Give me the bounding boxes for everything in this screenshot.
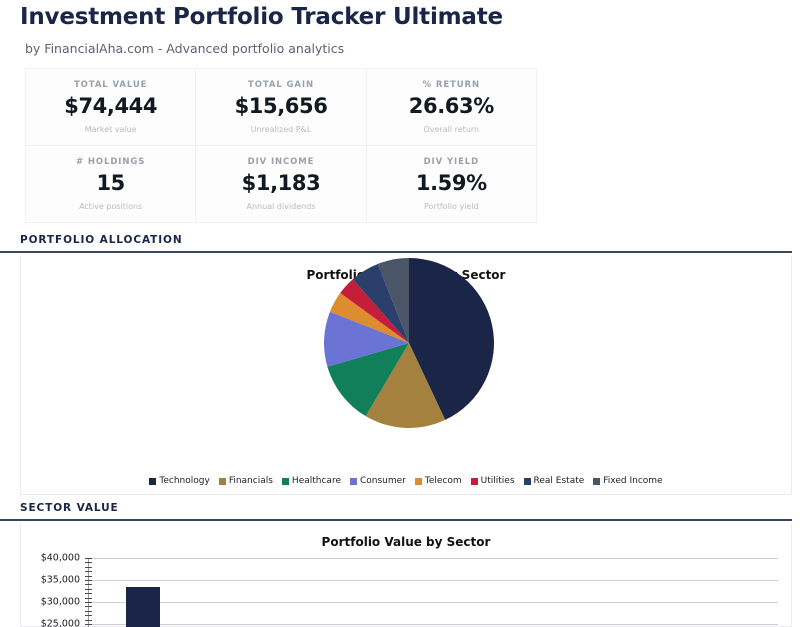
- stat-value: $15,656: [235, 95, 328, 117]
- y-axis-minor-tick: [85, 611, 92, 612]
- legend-label: Technology: [159, 476, 209, 486]
- legend-label: Utilities: [481, 476, 515, 486]
- stat-card: % RETURN26.63%Overall return: [367, 69, 536, 145]
- page-title: Investment Portfolio Tracker Ultimate: [20, 4, 503, 30]
- stat-label: % RETURN: [423, 80, 480, 90]
- bar-chart-title: Portfolio Value by Sector: [21, 535, 791, 549]
- y-axis-minor-tick: [85, 558, 92, 559]
- section-divider: [0, 519, 792, 521]
- y-axis-minor-tick: [85, 562, 92, 563]
- stat-sublabel: Active positions: [79, 202, 142, 211]
- y-axis-tick-label: $40,000: [41, 553, 80, 564]
- stat-label: DIV YIELD: [424, 157, 479, 167]
- y-axis-minor-tick: [85, 606, 92, 607]
- pie-chart[interactable]: [21, 255, 791, 494]
- portfolio-tracker-page: Investment Portfolio Tracker Ultimate by…: [0, 0, 800, 627]
- legend-label: Consumer: [360, 476, 406, 486]
- gridline: [88, 624, 778, 625]
- stat-sublabel: Overall return: [424, 125, 480, 134]
- stat-sublabel: Annual dividends: [247, 202, 316, 211]
- y-axis-tick-label: $30,000: [41, 597, 80, 608]
- legend-item[interactable]: Healthcare: [282, 476, 341, 486]
- stat-sublabel: Unrealized P&L: [251, 125, 312, 134]
- stat-card: # HOLDINGS15Active positions: [26, 146, 195, 222]
- y-axis-minor-tick: [85, 567, 92, 568]
- stat-value: $1,183: [242, 172, 321, 194]
- legend-swatch-icon: [415, 478, 422, 485]
- gridline: [88, 602, 778, 603]
- bar[interactable]: [126, 587, 160, 627]
- section-title-allocation: PORTFOLIO ALLOCATION: [0, 234, 792, 246]
- legend-swatch-icon: [524, 478, 531, 485]
- y-axis-tick-label: $35,000: [41, 575, 80, 586]
- stat-sublabel: Market value: [85, 125, 137, 134]
- y-axis-minor-tick: [85, 598, 92, 599]
- legend-item[interactable]: Fixed Income: [593, 476, 662, 486]
- stat-card: TOTAL GAIN$15,656Unrealized P&L: [196, 69, 365, 145]
- page-subtitle: by FinancialAha.com - Advanced portfolio…: [25, 41, 344, 56]
- legend-label: Healthcare: [292, 476, 341, 486]
- y-axis-minor-tick: [85, 580, 92, 581]
- y-axis-minor-tick: [85, 593, 92, 594]
- legend-item[interactable]: Technology: [149, 476, 209, 486]
- gridline: [88, 580, 778, 581]
- stat-value: $74,444: [64, 95, 157, 117]
- legend-swatch-icon: [471, 478, 478, 485]
- stat-card: DIV YIELD1.59%Portfolio yield: [367, 146, 536, 222]
- legend-swatch-icon: [219, 478, 226, 485]
- stat-value: 1.59%: [416, 172, 487, 194]
- stat-label: # HOLDINGS: [76, 157, 145, 167]
- stat-value: 26.63%: [409, 95, 494, 117]
- stat-label: DIV INCOME: [248, 157, 315, 167]
- y-axis-minor-tick: [85, 571, 92, 572]
- stat-value: 15: [96, 172, 124, 194]
- stat-label: TOTAL VALUE: [74, 80, 147, 90]
- legend-swatch-icon: [350, 478, 357, 485]
- y-axis-minor-tick: [85, 624, 92, 625]
- pie-chart-legend: TechnologyFinancialsHealthcareConsumerTe…: [21, 476, 791, 486]
- y-axis-minor-tick: [85, 576, 92, 577]
- y-axis-minor-tick: [85, 589, 92, 590]
- legend-item[interactable]: Financials: [219, 476, 273, 486]
- legend-item[interactable]: Consumer: [350, 476, 406, 486]
- y-axis-minor-tick: [85, 615, 92, 616]
- legend-item[interactable]: Real Estate: [524, 476, 585, 486]
- legend-label: Real Estate: [534, 476, 585, 486]
- stats-grid: TOTAL VALUE$74,444Market valueTOTAL GAIN…: [25, 68, 537, 223]
- y-axis-minor-tick: [85, 602, 92, 603]
- legend-item[interactable]: Telecom: [415, 476, 462, 486]
- y-axis-minor-tick: [85, 584, 92, 585]
- section-divider: [0, 251, 792, 253]
- legend-swatch-icon: [149, 478, 156, 485]
- legend-label: Telecom: [425, 476, 462, 486]
- section-header-allocation: PORTFOLIO ALLOCATION: [0, 234, 792, 253]
- legend-swatch-icon: [282, 478, 289, 485]
- stat-label: TOTAL GAIN: [248, 80, 314, 90]
- sector-value-chart-panel: Portfolio Value by Sector $40,000$35,000…: [20, 523, 792, 627]
- allocation-chart-panel: Portfolio Allocation by Sector Technolog…: [20, 255, 792, 495]
- legend-label: Financials: [229, 476, 273, 486]
- stat-sublabel: Portfolio yield: [424, 202, 479, 211]
- legend-label: Fixed Income: [603, 476, 662, 486]
- stat-card: TOTAL VALUE$74,444Market value: [26, 69, 195, 145]
- legend-swatch-icon: [593, 478, 600, 485]
- section-title-sector-value: SECTOR VALUE: [0, 502, 792, 514]
- pie-chart-svg[interactable]: [21, 255, 793, 495]
- legend-item[interactable]: Utilities: [471, 476, 515, 486]
- y-axis-minor-tick: [85, 620, 92, 621]
- gridline: [88, 558, 778, 559]
- section-header-sector-value: SECTOR VALUE: [0, 502, 792, 521]
- y-axis-tick-label: $25,000: [41, 619, 80, 627]
- bar-chart-plot-area[interactable]: $40,000$35,000$30,000$25,000: [88, 558, 778, 627]
- stat-card: DIV INCOME$1,183Annual dividends: [196, 146, 365, 222]
